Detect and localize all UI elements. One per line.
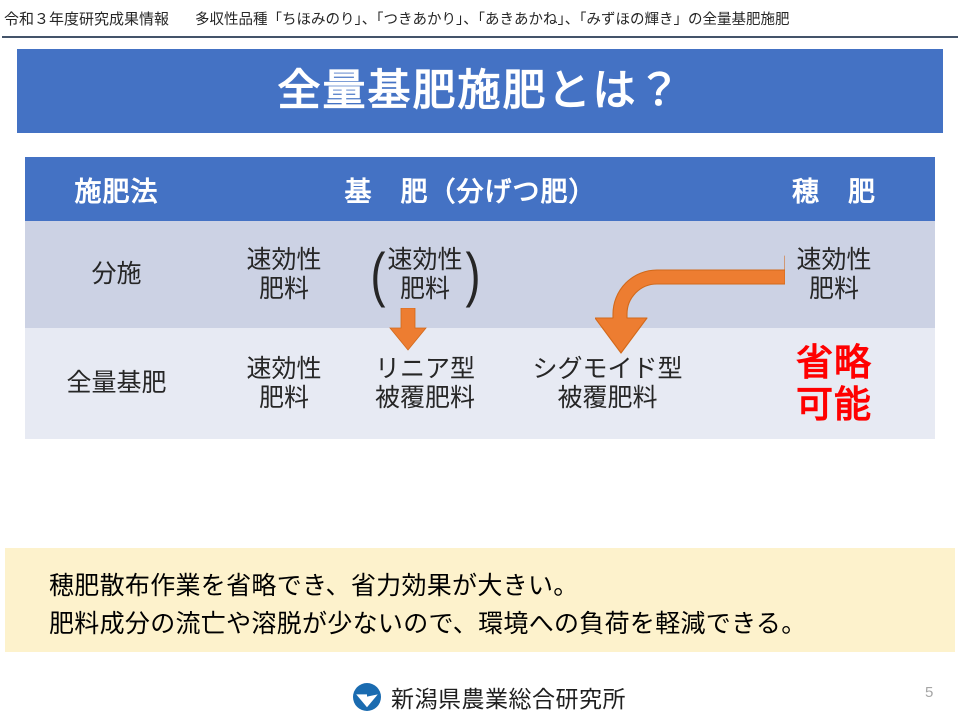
base-fragment-2-line2: 被覆肥料 (350, 384, 500, 413)
base-fragment-3: シグモイド型 被覆肥料 (500, 355, 715, 413)
base-fragment-1: 速効性 肥料 (218, 246, 350, 304)
slide-header: 令和３年度研究成果情報 多収性品種「ちほみのり」、「つきあかり」、「あきあかね」… (0, 0, 960, 36)
base-fragment-3-line1: シグモイド型 (500, 355, 715, 384)
base-fragment-2: リニア型 被覆肥料 (350, 355, 500, 413)
header-label: 令和３年度研究成果情報 (4, 8, 169, 29)
table-header-row: 施肥法 基 肥（分げつ肥） 穂 肥 (25, 157, 935, 221)
page-title: 全量基肥施肥とは？ (278, 70, 683, 113)
organization-brand: 新潟県農業総合研究所 (352, 680, 626, 714)
niigata-pref-logo-icon (352, 682, 382, 712)
column-header-panicle-fertilizer: 穂 肥 (733, 157, 935, 221)
base-fragment-1-line1: 速効性 (218, 246, 350, 275)
cell-method-split: 分施 (25, 221, 208, 328)
base-fragment-1-line2: 肥料 (218, 275, 350, 304)
panicle-line1: 速効性 (733, 246, 935, 275)
cell-panicle-split: 速効性 肥料 (733, 221, 935, 328)
method-label: 全量基肥 (25, 369, 208, 398)
base-fragment-2-bracketed: ( 速効性 肥料 ) (350, 246, 500, 304)
cell-method-basal: 全量基肥 (25, 328, 208, 439)
panicle-line1: 省略 (733, 342, 935, 383)
table-row: 全量基肥 速効性 肥料 リニア型 被覆肥料 シグモイド型 被覆肥料 (25, 328, 935, 439)
fertilizer-comparison-table: 施肥法 基 肥（分げつ肥） 穂 肥 分施 速効性 肥料 ( 速効性 (25, 157, 935, 439)
base-fragment-3-line2: 被覆肥料 (500, 384, 715, 413)
base-fragment-1-line1: 速効性 (218, 355, 350, 384)
benefits-callout-box: 穂肥散布作業を省略でき、省力効果が大きい。 肥料成分の流亡や溶脱が少ないので、環… (5, 548, 955, 652)
base-fragment-2: 速効性 肥料 (387, 246, 462, 304)
base-fragment-1: 速効性 肥料 (218, 355, 350, 413)
header-subtitle: 多収性品種「ちほみのり」、「つきあかり」、「あきあかね」、「みずほの輝き」の全量… (195, 8, 790, 29)
slide-title-banner: 全量基肥施肥とは？ (17, 49, 943, 133)
method-label: 分施 (25, 260, 208, 289)
panicle-label: 速効性 肥料 (733, 246, 935, 304)
callout-line-1: 穂肥散布作業を省略でき、省力効果が大きい。 (49, 566, 579, 602)
base-fragment-2-line1: 速効性 (387, 246, 462, 275)
table-row: 分施 速効性 肥料 ( 速効性 肥料 ) (25, 221, 935, 328)
panicle-omittable-badge: 省略 可能 (733, 342, 935, 425)
panicle-line2: 可能 (733, 384, 935, 425)
slide-footer: 新潟県農業総合研究所 5 (0, 678, 960, 720)
column-header-method: 施肥法 (25, 157, 208, 221)
base-fragment-2-line1: リニア型 (350, 355, 500, 384)
bracket-open: ( (370, 252, 385, 297)
cell-panicle-basal: 省略 可能 (733, 328, 935, 439)
organization-name: 新潟県農業総合研究所 (391, 680, 626, 714)
column-header-base-fertilizer: 基 肥（分げつ肥） (208, 157, 733, 221)
panicle-line2: 肥料 (733, 275, 935, 304)
callout-line-2: 肥料成分の流亡や溶脱が少ないので、環境への負荷を軽減できる。 (49, 604, 807, 640)
page-number: 5 (925, 684, 933, 701)
base-fragment-1-line2: 肥料 (218, 384, 350, 413)
base-fragment-2-line2: 肥料 (387, 275, 462, 304)
cell-base-basal: 速効性 肥料 リニア型 被覆肥料 シグモイド型 被覆肥料 (208, 328, 733, 439)
cell-base-split: 速効性 肥料 ( 速効性 肥料 ) (208, 221, 733, 328)
bracket-close: ) (465, 252, 480, 297)
header-divider (2, 36, 958, 38)
